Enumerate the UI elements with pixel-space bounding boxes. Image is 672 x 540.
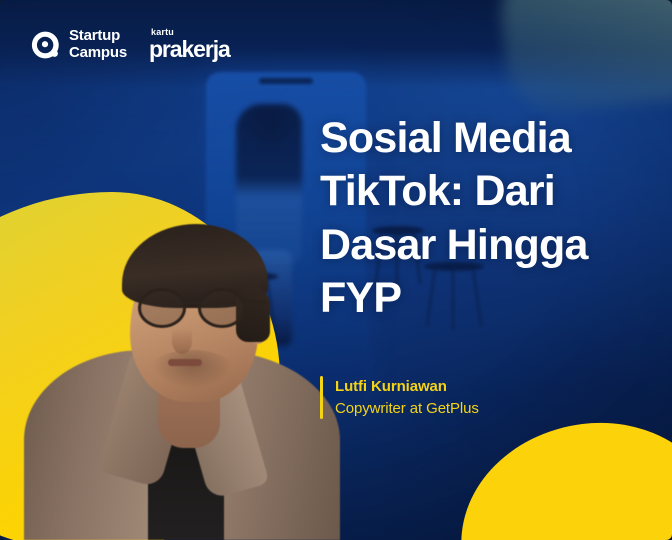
startup-campus-line1: Startup <box>69 27 120 44</box>
author-block: Lutfi Kurniawan Copywriter at GetPlus <box>320 376 479 419</box>
glasses-lens-left <box>138 288 186 328</box>
page-title: Sosial Media TikTok: Dari Dasar Hingga F… <box>320 112 650 325</box>
speaker-portrait <box>22 160 342 540</box>
title-line-1: Sosial Media <box>320 114 571 162</box>
author-accent-rule <box>320 376 323 419</box>
speaker-mouth <box>168 359 202 366</box>
startup-campus-line2: Campus <box>69 44 127 61</box>
speaker-nose <box>172 328 192 354</box>
kartu-prakerja-logo[interactable]: kartu prakerja <box>149 28 230 61</box>
logo-bar: Startup Campus kartu prakerja <box>30 28 230 61</box>
title-line-3: Dasar Hingga <box>320 221 588 269</box>
title-block: Sosial Media TikTok: Dari Dasar Hingga F… <box>320 112 650 325</box>
glasses-lens-right <box>198 288 246 328</box>
startup-campus-circle-icon <box>30 30 60 60</box>
course-thumbnail-card: Startup Campus kartu prakerja Sosial Med… <box>0 0 672 540</box>
startup-campus-logo[interactable]: Startup Campus <box>30 28 127 60</box>
author-name: Lutfi Kurniawan <box>335 376 479 398</box>
prakerja-wordmark: prakerja <box>149 38 230 61</box>
speaker-beard <box>146 350 238 398</box>
title-line-4: FYP <box>320 274 401 322</box>
startup-campus-wordmark: Startup Campus <box>69 28 127 60</box>
glasses-bridge <box>185 301 200 304</box>
author-role: Copywriter at GetPlus <box>335 398 479 420</box>
title-line-2: TikTok: Dari <box>320 167 555 215</box>
speaker-glasses <box>126 288 262 328</box>
